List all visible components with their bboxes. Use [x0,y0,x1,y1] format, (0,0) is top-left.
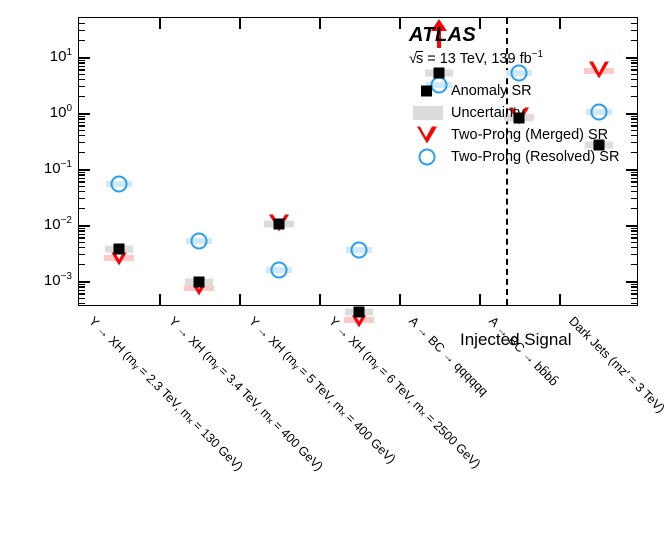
x-tick-major [399,294,401,305]
y-tick-exponent: −1 [61,159,72,170]
anomaly-sr-marker [274,218,285,229]
y-tick-label: 100 [0,103,72,121]
y-tick-exponent: −2 [61,215,72,226]
y-tick-minor [631,135,637,136]
y-tick-minor [79,191,85,192]
legend-label-anomaly: Anomaly SR [451,83,532,99]
y-tick-minor [631,247,637,248]
resolved-sr-marker [271,262,288,279]
y-tick-minor [631,152,637,153]
y-tick-minor [79,62,85,63]
x-tick-major-top [159,18,161,29]
y-tick-minor [79,79,85,80]
y-tick-major-right [626,169,637,171]
legend-row-resolved: Two-Prong (Resolved) SR [409,146,619,168]
y-tick-minor [79,298,85,299]
x-tick-major-top [399,18,401,29]
x-tick-major [559,294,561,305]
y-tick-major-right [626,113,637,115]
y-tick-minor [631,40,637,41]
y-tick-minor [631,23,637,24]
y-tick-minor [79,125,85,126]
legend-label-uncertainty: Uncertainty [451,105,524,121]
plot-legend: Anomaly SR Uncertainty Two-Prong (Merged… [409,80,619,168]
y-tick-minor [79,60,85,61]
x-tick-major-top [239,18,241,29]
x-tick-major [479,294,481,305]
y-tick-minor [631,286,637,287]
y-tick-minor [631,174,637,175]
legend-row-anomaly: Anomaly SR [409,80,619,102]
y-tick-minor [79,74,85,75]
y-tick-major [79,57,90,59]
x-category-label: Y → XH (mᵧ = 5 TeV, mₓ = 400 GeV) [246,314,398,466]
y-tick-minor [631,254,637,255]
y-tick-minor [79,290,85,291]
y-tick-minor [631,293,637,294]
y-tick-minor [79,198,85,199]
anomaly-sr-marker [354,306,365,317]
y-tick-minor [631,298,637,299]
merged-sr-marker [589,62,609,79]
y-tick-major [79,281,90,283]
y-tick-minor [631,30,637,31]
y-tick-minor [79,116,85,117]
y-tick-minor [79,303,85,304]
y-tick-exponent: 0 [66,103,72,114]
y-tick-minor [631,172,637,173]
y-tick-major [79,113,90,115]
y-tick-minor [631,303,637,304]
y-tick-minor [79,254,85,255]
y-tick-minor [631,116,637,117]
y-tick-mantissa: 10 [50,104,67,121]
resolved-sr-marker [351,241,368,258]
x-tick-major [239,294,241,305]
y-tick-minor [79,174,85,175]
y-tick-minor [631,242,637,243]
y-tick-minor [631,74,637,75]
x-category-label: Y → XH (mᵧ = 2.3 TeV, mₓ = 130 GeV) [86,314,246,474]
y-tick-minor [631,186,637,187]
atlas-label-block: ATLAS √s = 13 TeV, 139 fb−1 [409,24,543,67]
y-tick-minor [631,66,637,67]
plot-axes-frame: ATLAS √s = 13 TeV, 139 fb−1 Anomaly SR U… [78,17,638,306]
resolved-sr-marker [111,176,128,193]
y-tick-minor [631,228,637,229]
y-tick-minor [631,130,637,131]
y-tick-exponent: −3 [61,271,72,282]
y-tick-minor [79,237,85,238]
y-tick-minor [631,122,637,123]
x-tick-major-top [319,18,321,29]
y-tick-minor [79,286,85,287]
y-tick-minor [631,230,637,231]
y-tick-minor [79,40,85,41]
open-triangle-marker-icon [409,124,451,146]
y-tick-minor [79,230,85,231]
y-tick-major [79,225,90,227]
y-tick-minor [79,118,85,119]
y-tick-minor [631,191,637,192]
y-tick-minor [631,62,637,63]
y-tick-mantissa: 10 [44,216,61,233]
x-tick-major [319,294,321,305]
x-category-label: Dark Jets (mᴢ′ = 3 TeV) [566,314,664,416]
y-tick-minor [631,181,637,182]
x-category-label: A → BC → bb̄bb̄ [486,314,561,389]
y-tick-minor [631,142,637,143]
y-tick-minor [79,122,85,123]
y-tick-minor [631,79,637,80]
y-tick-minor [79,135,85,136]
y-tick-mantissa: 10 [44,160,61,177]
y-tick-minor [79,96,85,97]
y-tick-minor [631,237,637,238]
filled-square-marker-icon [409,80,451,102]
y-tick-minor [79,23,85,24]
y-tick-minor [79,234,85,235]
y-tick-minor [631,118,637,119]
y-tick-major-right [626,57,637,59]
gray-band-marker-icon [409,102,451,124]
y-tick-minor [79,293,85,294]
atlas-energy-luminosity: √s = 13 TeV, 139 fb−1 [409,49,543,67]
y-tick-minor [631,178,637,179]
x-axis-title: Injected Signal [460,330,572,350]
sqrt-s-symbol: √s [409,51,423,67]
x-category-label: A → BC → qqqqqq [406,314,491,399]
y-tick-minor [79,247,85,248]
y-tick-minor [79,172,85,173]
y-tick-label: 10−3 [0,271,72,289]
y-tick-minor [79,284,85,285]
y-tick-minor [79,242,85,243]
atlas-logo-text: ATLAS [409,24,543,47]
y-tick-minor [79,264,85,265]
open-circle-marker-icon [409,146,451,168]
y-tick-minor [79,30,85,31]
y-tick-minor [631,60,637,61]
y-tick-major-right [626,281,637,283]
y-tick-minor [79,86,85,87]
y-tick-label: 10−1 [0,159,72,177]
y-tick-major [79,169,90,171]
y-tick-minor [631,96,637,97]
y-tick-exponent: 1 [66,47,72,58]
y-tick-mantissa: 10 [44,272,61,289]
y-tick-minor [79,152,85,153]
legend-label-merged: Two-Prong (Merged) SR [451,127,608,143]
legend-row-merged: Two-Prong (Merged) SR [409,124,619,146]
y-tick-minor [631,264,637,265]
luminosity-exponent: −1 [532,49,543,60]
y-tick-minor [631,284,637,285]
y-tick-minor [79,186,85,187]
legend-row-uncertainty: Uncertainty [409,102,619,124]
y-tick-minor [631,198,637,199]
x-tick-major [159,294,161,305]
y-tick-minor [79,66,85,67]
y-tick-label: 101 [0,47,72,65]
y-tick-minor [631,86,637,87]
y-tick-minor [631,125,637,126]
anomaly-sr-marker [114,244,125,255]
y-tick-minor [79,178,85,179]
anomaly-sr-marker [434,67,445,78]
y-tick-minor [631,290,637,291]
y-tick-minor [79,181,85,182]
y-tick-minor [79,142,85,143]
y-tick-minor [79,208,85,209]
y-tick-label: 10−2 [0,215,72,233]
x-category-label: Y → XH (mᵧ = 3.4 TeV, mₓ = 400 GeV) [166,314,326,474]
legend-label-resolved: Two-Prong (Resolved) SR [451,149,619,165]
atlas-energy-text: = 13 TeV, 139 fb [423,51,531,67]
y-tick-major-right [626,225,637,227]
y-tick-minor [631,69,637,70]
y-tick-minor [631,208,637,209]
y-tick-mantissa: 10 [50,48,67,65]
anomaly-sr-marker [194,277,205,288]
x-tick-major-top [559,18,561,29]
y-tick-minor [79,228,85,229]
y-tick-minor [79,69,85,70]
y-tick-minor [631,234,637,235]
resolved-sr-marker [191,233,208,250]
y-tick-minor [79,130,85,131]
cross-section-limit-plot: 95% CL Limit on Cross Section [pb] ATLAS… [0,0,664,537]
